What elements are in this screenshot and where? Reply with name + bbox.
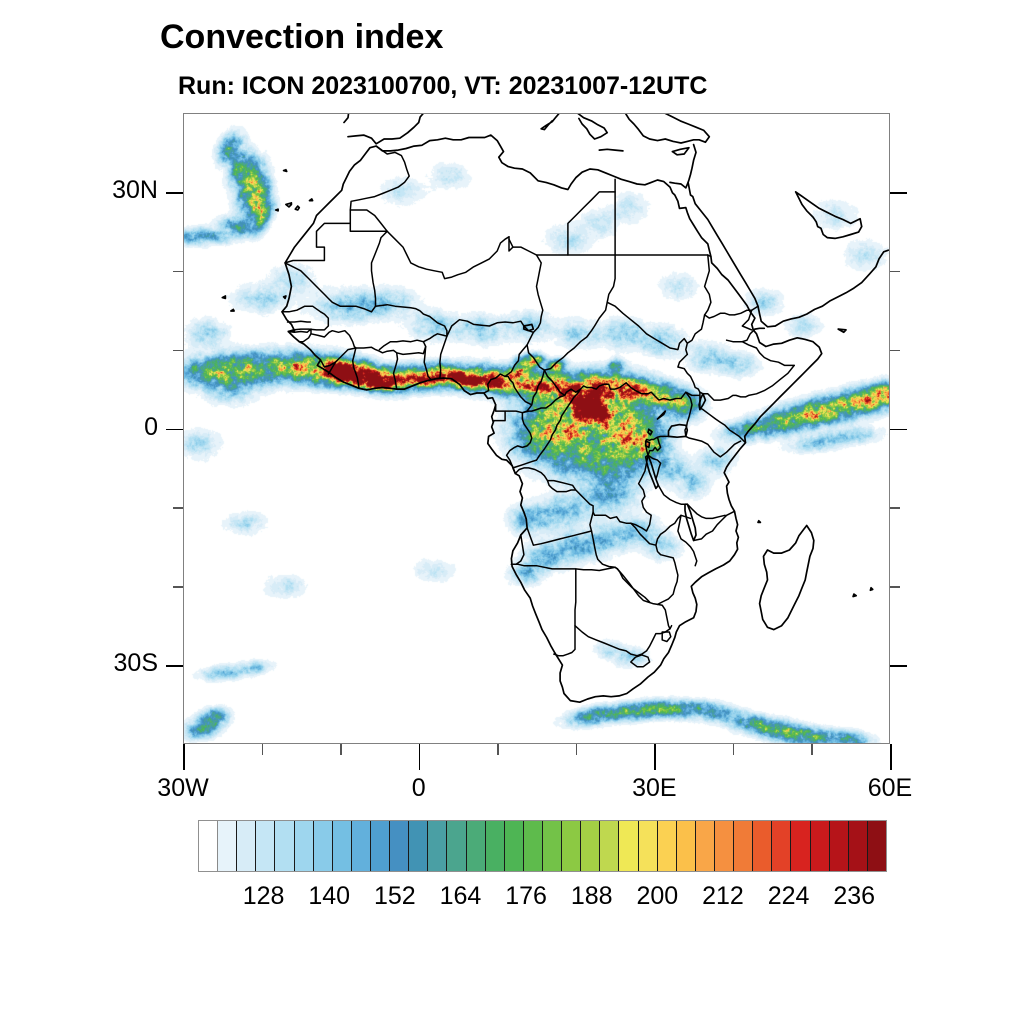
figure-root: Convection index Run: ICON 2023100700, V…	[0, 0, 1024, 1024]
y-minor-tick	[173, 350, 183, 352]
map-panel	[183, 113, 890, 744]
colorbar-cell[interactable]	[371, 821, 390, 871]
x-major-tick	[890, 744, 892, 770]
colorbar-cell[interactable]	[830, 821, 849, 871]
y-major-tick-right	[890, 192, 907, 194]
x-major-tick	[654, 744, 656, 770]
x-minor-tick	[576, 744, 578, 755]
y-major-tick-right	[890, 665, 907, 667]
colorbar-cell[interactable]	[333, 821, 352, 871]
colorbar-cell[interactable]	[409, 821, 428, 871]
colorbar-cell[interactable]	[639, 821, 658, 871]
longitude-label: 0	[339, 774, 499, 803]
page-title: Convection index	[160, 18, 443, 57]
colorbar-cell[interactable]	[467, 821, 486, 871]
y-minor-tick-right	[890, 507, 900, 509]
colorbar-cell[interactable]	[562, 821, 581, 871]
colorbar-cell[interactable]	[677, 821, 696, 871]
coastline-border-overlay	[183, 113, 890, 744]
colorbar-cell[interactable]	[715, 821, 734, 871]
y-minor-tick	[173, 586, 183, 588]
colorbar-cell[interactable]	[352, 821, 371, 871]
x-major-tick	[183, 744, 185, 770]
latitude-label: 30N	[38, 176, 158, 205]
colorbar-cell[interactable]	[868, 821, 886, 871]
colorbar-cell[interactable]	[199, 821, 218, 871]
x-minor-tick	[340, 744, 342, 755]
y-minor-tick	[173, 507, 183, 509]
y-minor-tick	[173, 271, 183, 273]
colorbar-cell[interactable]	[811, 821, 830, 871]
y-major-tick	[166, 665, 183, 667]
run-valid-time-subtitle: Run: ICON 2023100700, VT: 20231007-12UTC	[178, 72, 707, 101]
longitude-label: 30W	[103, 774, 263, 803]
x-minor-tick	[262, 744, 264, 755]
x-major-tick	[419, 744, 421, 770]
x-minor-tick	[733, 744, 735, 755]
latitude-label: 0	[38, 413, 158, 442]
colorbar-cell[interactable]	[734, 821, 753, 871]
colorbar-cell[interactable]	[791, 821, 810, 871]
colorbar-cell[interactable]	[428, 821, 447, 871]
colorbar-cell[interactable]	[237, 821, 256, 871]
longitude-label: 30E	[574, 774, 734, 803]
latitude-label: 30S	[38, 649, 158, 678]
colorbar-cell[interactable]	[600, 821, 619, 871]
colorbar-cell[interactable]	[619, 821, 638, 871]
colorbar-cell[interactable]	[658, 821, 677, 871]
colorbar-tick-label: 236	[794, 882, 914, 911]
y-major-tick	[166, 429, 183, 431]
colorbar-cell[interactable]	[275, 821, 294, 871]
colorbar-cell[interactable]	[581, 821, 600, 871]
x-minor-tick	[497, 744, 499, 755]
colorbar-cell[interactable]	[543, 821, 562, 871]
colorbar-cell[interactable]	[524, 821, 543, 871]
colorbar-cell[interactable]	[314, 821, 333, 871]
longitude-label: 60E	[810, 774, 970, 803]
colorbar-cell[interactable]	[486, 821, 505, 871]
colorbar-cell[interactable]	[390, 821, 409, 871]
colorbar[interactable]	[198, 820, 887, 872]
y-minor-tick-right	[890, 350, 900, 352]
colorbar-cell[interactable]	[295, 821, 314, 871]
x-minor-tick	[811, 744, 813, 755]
colorbar-cell[interactable]	[772, 821, 791, 871]
y-minor-tick-right	[890, 271, 900, 273]
colorbar-cell[interactable]	[218, 821, 237, 871]
colorbar-cell[interactable]	[753, 821, 772, 871]
colorbar-cell[interactable]	[256, 821, 275, 871]
colorbar-cell[interactable]	[849, 821, 868, 871]
colorbar-cell[interactable]	[505, 821, 524, 871]
y-major-tick-right	[890, 429, 907, 431]
y-minor-tick-right	[890, 586, 900, 588]
colorbar-cell[interactable]	[696, 821, 715, 871]
colorbar-cell[interactable]	[447, 821, 466, 871]
y-major-tick	[166, 192, 183, 194]
